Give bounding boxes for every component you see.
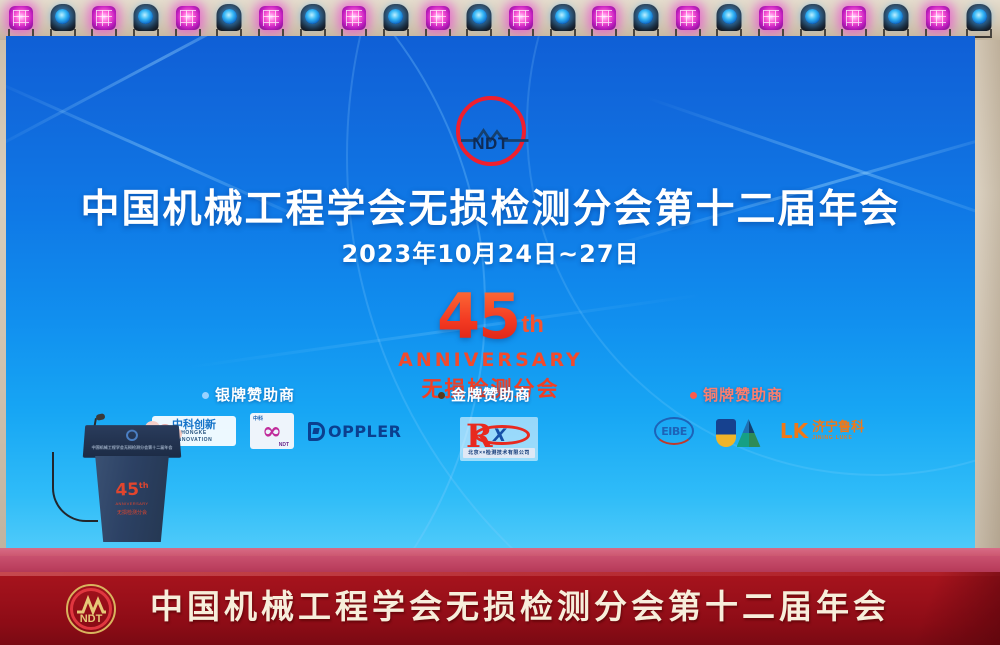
podium-anniversary-number: 45th <box>115 481 149 499</box>
moving-head-light-icon <box>379 2 413 38</box>
sponsor-tier-silver: 银牌赞助商 中科创新 HONGKE INNOVATION 中科 ∞ NDT OP… <box>202 384 404 449</box>
lamp-body <box>759 6 783 30</box>
par-light-icon <box>587 2 621 38</box>
podium-caption-cn: 无损检测分会 <box>117 509 147 516</box>
lamp-body <box>342 6 366 30</box>
sponsor-tier-label-silver: 银牌赞助商 <box>202 384 404 405</box>
par-light-icon <box>254 2 288 38</box>
lamp-lens <box>138 9 153 24</box>
banner-title: 中国机械工程学会无损检测分会第十二届年会 <box>150 580 990 628</box>
banner-fold-shadow <box>880 572 1000 645</box>
banner-logo-text: NDT <box>66 613 116 625</box>
par-light-icon <box>171 2 205 38</box>
ndt-logo-icon: NDT <box>456 96 526 166</box>
par-light-icon <box>671 2 705 38</box>
lamp-body <box>842 6 866 30</box>
lamp-body <box>383 4 408 31</box>
moving-head-light-icon <box>296 2 330 38</box>
sponsor-tier-label-gold: 金牌赞助商 <box>438 384 538 405</box>
led-grid <box>680 10 696 26</box>
lamp-lens <box>555 9 570 24</box>
led-grid <box>596 10 612 26</box>
lighting-truss <box>0 0 1000 40</box>
lamp-body <box>426 6 450 30</box>
bullet-icon <box>202 392 209 399</box>
eibe-ring-icon <box>654 417 694 445</box>
par-light-icon <box>337 2 371 38</box>
lamp-body <box>717 4 742 31</box>
lamp-body <box>259 6 283 30</box>
lamp-lens <box>305 9 320 24</box>
moving-head-light-icon <box>962 2 996 38</box>
led-grid <box>763 10 779 26</box>
led-grid <box>930 10 946 26</box>
moving-head-light-icon <box>546 2 580 38</box>
lamp-body <box>217 4 242 31</box>
lamp-body <box>800 4 825 31</box>
moving-head-light-icon <box>796 2 830 38</box>
lamp-lens <box>55 9 70 24</box>
podium-top: 中国机械工程学会无损检测分会第十二届年会 <box>83 425 182 458</box>
podium-emblem-icon <box>126 430 138 441</box>
par-light-icon <box>87 2 121 38</box>
doppler-d-icon <box>308 422 325 441</box>
par-light-icon <box>421 2 455 38</box>
lamp-body <box>176 6 200 30</box>
led-grid <box>13 10 29 26</box>
par-light-icon <box>4 2 38 38</box>
anniversary-number: 45 <box>437 280 519 353</box>
sponsor-logos-gold: R X 北京××检测技术有限公司 <box>460 417 538 461</box>
lamp-body <box>883 4 908 31</box>
sponsor-logo-eibe[interactable]: EIBE <box>648 416 700 446</box>
event-date: 2023年10月24日~27日 <box>6 234 975 269</box>
sponsor-logos-bronze: EIBE LK 济宁鲁科 JINING LUKE <box>648 415 868 447</box>
led-grid <box>346 10 362 26</box>
lamp-body <box>50 4 75 31</box>
sponsor-logos-silver: 中科创新 HONGKE INNOVATION 中科 ∞ NDT OPPLER <box>152 413 404 449</box>
led-grid <box>430 10 446 26</box>
banner-waveform-icon <box>66 584 116 634</box>
wm-shape-right <box>737 419 761 447</box>
sponsor-logo-doppler[interactable]: OPPLER <box>308 418 404 444</box>
lamp-lens <box>888 9 903 24</box>
lamp-body <box>967 4 992 31</box>
lamp-lens <box>638 9 653 24</box>
sponsor-logo-gold-r[interactable]: R X 北京××检测技术有限公司 <box>460 417 538 461</box>
banner-ndt-logo-icon: NDT <box>66 584 116 634</box>
anniversary-ordinal: th <box>521 311 544 338</box>
lamp-body <box>926 6 950 30</box>
moving-head-light-icon <box>712 2 746 38</box>
led-grid <box>96 10 112 26</box>
lamp-lens <box>388 9 403 24</box>
lamp-lens <box>472 9 487 24</box>
lamp-body <box>550 4 575 31</box>
lamp-body <box>676 6 700 30</box>
par-light-icon <box>921 2 955 38</box>
led-grid <box>263 10 279 26</box>
lamp-body <box>633 4 658 31</box>
lamp-lens <box>722 9 737 24</box>
page-title: 中国机械工程学会无损检测分会第十二届年会 <box>6 178 975 234</box>
bullet-icon <box>438 392 445 399</box>
podium-caption: ANNIVERSARY <box>115 501 148 506</box>
led-grid <box>180 10 196 26</box>
lamp-lens <box>972 9 987 24</box>
par-light-icon <box>504 2 538 38</box>
led-grid <box>513 10 529 26</box>
lamp-body <box>467 4 492 31</box>
moving-head-light-icon <box>129 2 163 38</box>
gold-logo-bar: 北京××检测技术有限公司 <box>463 448 535 458</box>
podium-body: 45th ANNIVERSARY 无损检测分会 <box>92 456 172 542</box>
lamp-body <box>592 6 616 30</box>
moving-head-light-icon <box>462 2 496 38</box>
lamp-body <box>9 6 33 30</box>
lamp-body <box>92 6 116 30</box>
lamp-body <box>133 4 158 31</box>
lamp-body <box>509 6 533 30</box>
moving-head-light-icon <box>629 2 663 38</box>
moving-head-light-icon <box>879 2 913 38</box>
lamp-lens <box>805 9 820 24</box>
lamp-lens <box>222 9 237 24</box>
led-grid <box>846 10 862 26</box>
lamp-body <box>300 4 325 31</box>
sponsor-tier-bronze: 铜牌赞助商 EIBE LK 济宁鲁科 JINING LUKE <box>690 384 868 447</box>
sponsor-tier-label-bronze: 铜牌赞助商 <box>690 384 868 405</box>
sponsor-logo-jining-luke[interactable]: LK 济宁鲁科 JINING LUKE <box>776 416 868 446</box>
bullet-icon <box>690 392 697 399</box>
par-light-icon <box>837 2 871 38</box>
sponsor-tier-gold: 金牌赞助商 R X 北京××检测技术有限公司 <box>438 384 538 461</box>
speaker-podium: 中国机械工程学会无损检测分会第十二届年会 45th ANNIVERSARY 无损… <box>84 424 180 564</box>
moving-head-light-icon <box>46 2 80 38</box>
wm-shape-left <box>716 419 736 447</box>
par-light-icon <box>754 2 788 38</box>
sponsor-logo-wm[interactable] <box>714 415 762 447</box>
ndt-logo-text: NDT <box>456 134 526 154</box>
sponsor-logo-ndt-square[interactable]: 中科 ∞ NDT <box>250 413 294 449</box>
moving-head-light-icon <box>212 2 246 38</box>
podium-plaque-text: 中国机械工程学会无损检测分会第十二届年会 <box>91 444 172 452</box>
